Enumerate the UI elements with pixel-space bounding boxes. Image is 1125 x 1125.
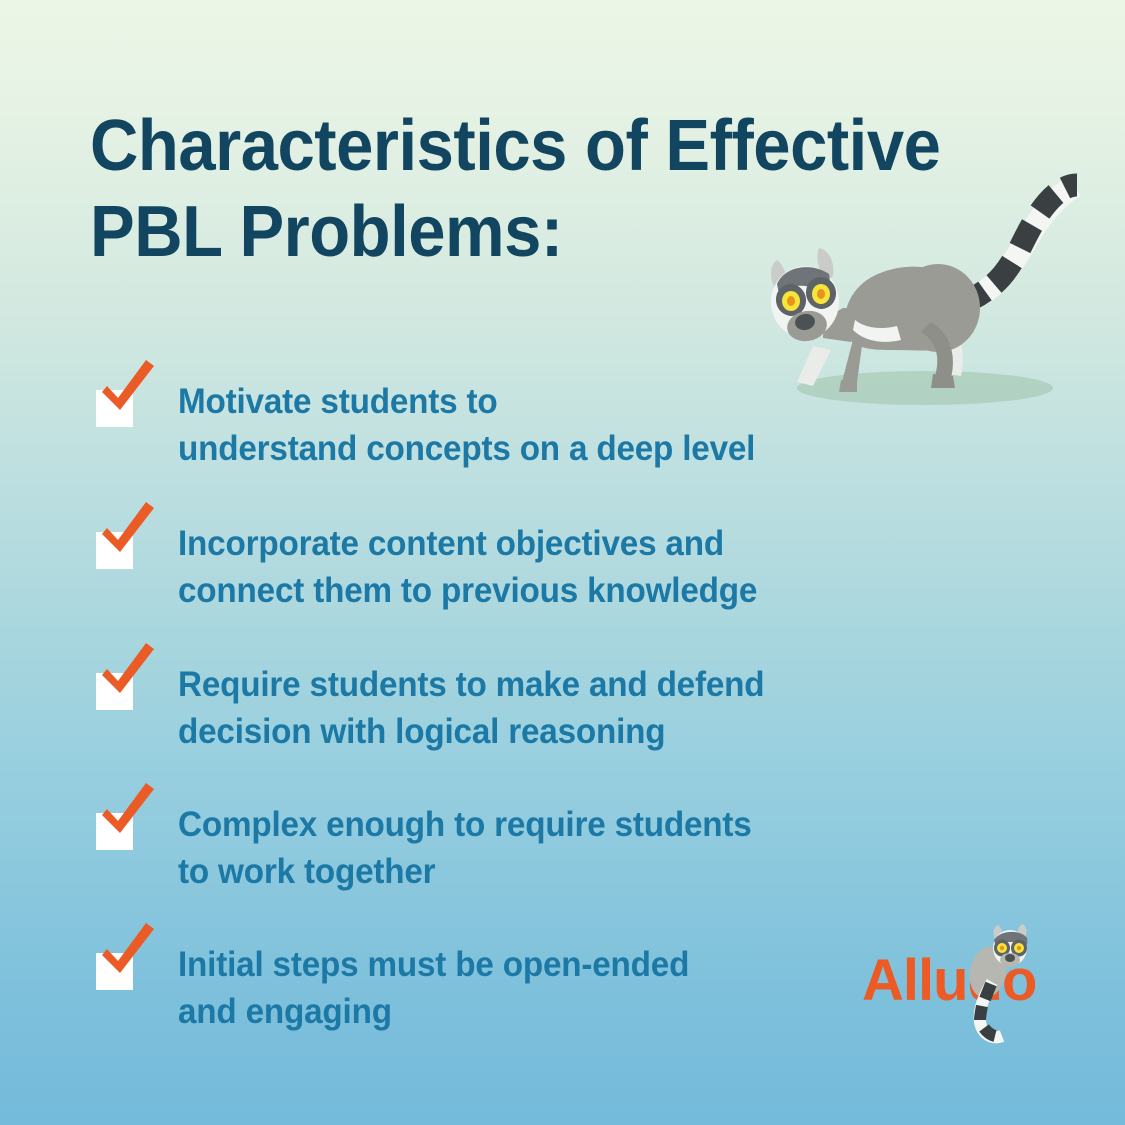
lemur-mascot-icon — [958, 924, 1058, 1048]
list-item: Motivate students to understand concepts… — [96, 378, 956, 520]
list-item-label: Complex enough to require students to wo… — [178, 801, 929, 895]
mascot-pupil-right — [1017, 946, 1021, 950]
alludo-logo[interactable]: Alludo — [862, 938, 1062, 1048]
check-icon — [94, 919, 158, 983]
list-item-label: Motivate students to understand concepts… — [178, 378, 929, 472]
mascot-pupil-left — [1000, 946, 1004, 950]
list-item: Require students to make and defend deci… — [96, 661, 956, 801]
list-item-label: Initial steps must be open-ended and eng… — [178, 941, 929, 1035]
mascot-nose — [1005, 954, 1015, 962]
ring-tailed-lemur-illustration — [735, 150, 1125, 410]
list-item: Incorporate content objectives and conne… — [96, 520, 956, 661]
lemur-tail — [963, 185, 1077, 302]
check-icon — [94, 498, 158, 562]
infographic-poster: Characteristics of Effective PBL Problem… — [0, 0, 1125, 1125]
check-icon — [94, 779, 158, 843]
list-item: Initial steps must be open-ended and eng… — [96, 941, 956, 1081]
logo-lemur-svg — [958, 924, 1058, 1048]
lemur-pupil-left — [787, 296, 795, 306]
list-item: Complex enough to require students to wo… — [96, 801, 956, 941]
lemur-svg — [735, 150, 1125, 410]
check-icon — [94, 639, 158, 703]
list-item-label: Require students to make and defend deci… — [178, 661, 929, 755]
list-item-label: Incorporate content objectives and conne… — [178, 520, 929, 614]
mascot-head — [993, 924, 1027, 967]
check-icon — [94, 356, 158, 420]
characteristics-checklist: Motivate students to understand concepts… — [96, 378, 956, 1081]
lemur-pupil-right — [817, 289, 825, 299]
